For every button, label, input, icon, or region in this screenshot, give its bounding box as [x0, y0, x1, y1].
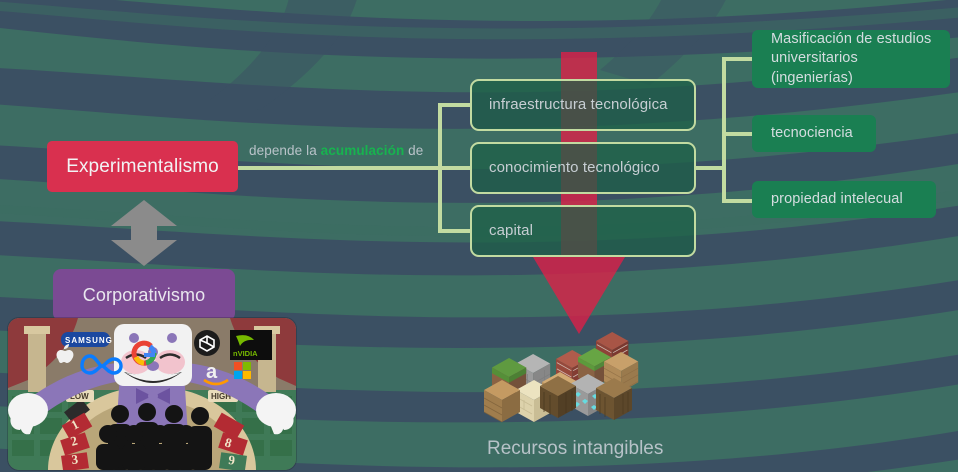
node-masificacion-estudios-universitarios[interactable]: Masificación de estudios universitarios … [752, 30, 950, 88]
svg-text:a: a [206, 361, 218, 383]
node-label: Masificación de estudios universitarios … [771, 30, 936, 89]
edge-label-acumulacion: depende la acumulación de [249, 143, 423, 158]
node-propiedad-intelecual[interactable]: propiedad intelecual [752, 181, 936, 218]
node-tecnociencia[interactable]: tecnociencia [752, 115, 876, 152]
svg-text:SAMSUNG: SAMSUNG [65, 336, 113, 345]
svg-text:nVIDIA: nVIDIA [233, 349, 258, 358]
gray-double-headed-arrow [111, 200, 177, 266]
edge-label-prefix: depende la [249, 143, 321, 158]
node-label: conocimiento tecnológico [489, 159, 660, 178]
connector-branch-right-2 [722, 132, 754, 136]
node-conocimiento-tecnologico[interactable]: conocimiento tecnológico [470, 142, 696, 194]
connector-branch-right-1 [722, 57, 754, 61]
connector-root-trunk [238, 166, 442, 170]
node-label: infraestructura tecnológica [489, 96, 668, 115]
diagram-canvas: depende la acumulación de infraestructur… [0, 0, 958, 472]
node-label: Experimentalismo [66, 155, 219, 179]
node-label: tecnociencia [771, 124, 853, 142]
caption-recursos-intangibles: Recursos intangibles [487, 438, 663, 460]
node-experimentalismo[interactable]: Experimentalismo [47, 141, 238, 192]
connector-branch-middle-1 [438, 103, 472, 107]
node-label: Corporativismo [83, 284, 205, 307]
connector-branch-middle-2 [438, 166, 472, 170]
node-capital[interactable]: capital [470, 205, 696, 257]
node-infraestructura-tecnologica[interactable]: infraestructura tecnológica [470, 79, 696, 131]
minecraft-blocks-pile [478, 332, 662, 432]
node-corporativismo[interactable]: Corporativismo [53, 269, 235, 321]
node-label: capital [489, 222, 533, 241]
edge-label-highlight: acumulación [321, 143, 405, 158]
node-label: propiedad intelecual [771, 190, 903, 208]
connector-branch-right-3 [722, 199, 754, 203]
connector-branch-middle-3 [438, 229, 472, 233]
connector-right-spine [722, 57, 726, 203]
casino-clown-tech-logos-illustration: 1 2 3 8 9 LOW HIGH [8, 318, 296, 470]
edge-label-suffix: de [404, 143, 423, 158]
